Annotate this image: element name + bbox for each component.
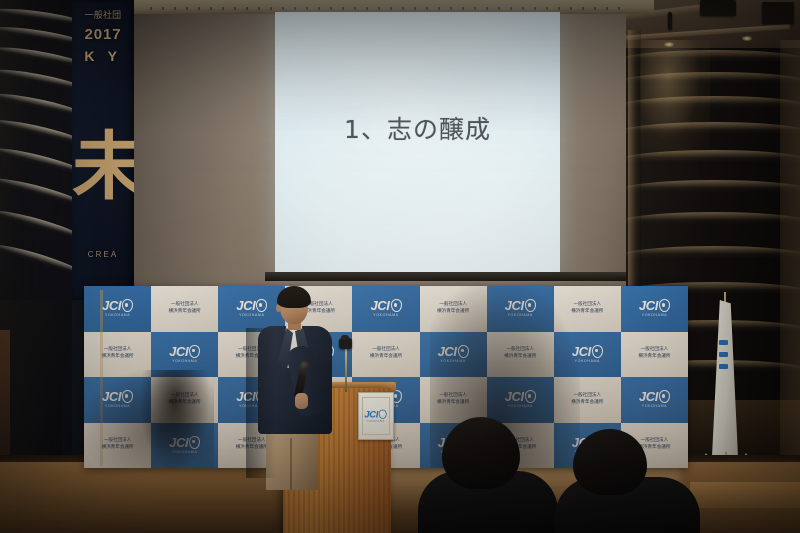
audience-member-right — [555, 433, 700, 533]
foreground-silhouette — [140, 370, 210, 470]
presenter-shading — [246, 328, 276, 478]
curtain-right-light — [640, 40, 710, 160]
presenter-trouser-crease — [290, 438, 292, 490]
curtain-swag — [626, 246, 800, 258]
plaque-inner-border: JCI YOKOHAMA — [362, 397, 390, 435]
slide-title-text: 1、志の醸成 — [275, 110, 560, 146]
audience-member-left — [418, 423, 558, 533]
flag-stand-base — [690, 482, 800, 508]
plaque-jci-subtext: YOKOHAMA — [367, 420, 385, 423]
wall-shadow — [134, 0, 279, 290]
banner-tagline-text: CREA — [72, 250, 134, 259]
banner-kanji-glyph: 未 — [72, 92, 134, 242]
ceiling-projector-mount — [762, 2, 794, 24]
flag-marking — [719, 352, 728, 357]
banner-organization-text: 一般社団 — [72, 8, 134, 21]
ceiling-pipe — [668, 12, 672, 30]
audience-head — [573, 429, 647, 495]
presenter-hand — [295, 393, 308, 409]
map-pin-icon — [379, 409, 387, 418]
audience-head — [442, 417, 520, 489]
curtain-swag — [626, 180, 800, 192]
event-banner: 一般社団 2017 K Y 未 CREA — [72, 0, 134, 300]
flag-marking — [719, 364, 728, 369]
curtain-swag — [626, 212, 800, 224]
ceiling-rail-perforations — [150, 7, 630, 10]
flag-marking — [719, 340, 728, 345]
plaque-jci-wordmark: JCI — [365, 409, 379, 418]
banner-year-text: 2017 — [72, 26, 134, 43]
wall-right-section — [556, 10, 626, 282]
ceiling-downlight-2 — [742, 36, 752, 41]
stage-pillar-right — [780, 40, 800, 460]
banner-initials-text: K Y — [72, 48, 134, 64]
presenter-hair — [277, 286, 311, 308]
ceiling-speaker-mount — [700, 0, 736, 16]
microphone-stand — [345, 347, 347, 392]
presentation-scene-photo: 一般社団 2017 K Y 未 CREA 1、志の醸成 — [0, 0, 800, 533]
screen-bottom-edge — [265, 272, 630, 281]
podium-emblem-plaque: JCI YOKOHAMA — [358, 392, 394, 440]
plaque-jci-logo: JCI YOKOHAMA — [365, 409, 387, 422]
presenter — [250, 288, 345, 488]
backdrop-frame-post — [100, 290, 103, 466]
